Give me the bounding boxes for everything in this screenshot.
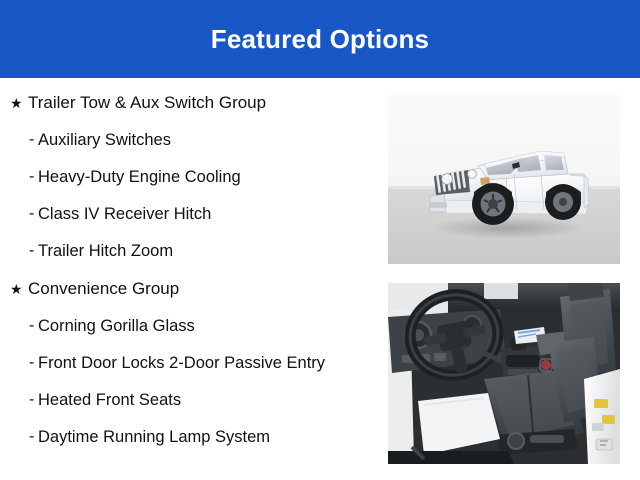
- option-item-row: - Trailer Hitch Zoom: [8, 238, 374, 275]
- option-group-label: Trailer Tow & Aux Switch Group: [28, 90, 374, 116]
- option-item-row: - Auxiliary Switches: [8, 127, 374, 164]
- option-group-row: ★ Trailer Tow & Aux Switch Group: [8, 90, 374, 127]
- star-bullet-icon: ★: [8, 276, 28, 302]
- option-item-label: Heated Front Seats: [29, 387, 334, 413]
- option-item-row: - Corning Gorilla Glass: [8, 313, 374, 350]
- vehicle-interior-photo: [388, 283, 620, 464]
- dash-bullet-icon: -: [8, 127, 29, 153]
- option-item-row: - Heavy-Duty Engine Cooling: [8, 164, 374, 201]
- option-group-label: Convenience Group: [28, 276, 374, 302]
- option-item-row: - Front Door Locks 2-Door Passive Entry: [8, 350, 374, 387]
- option-group-row: ★ Convenience Group: [8, 276, 374, 313]
- page-title: Featured Options: [211, 26, 429, 52]
- media-column: [388, 92, 620, 464]
- option-item-label: Corning Gorilla Glass: [29, 313, 334, 339]
- dash-bullet-icon: -: [8, 201, 29, 227]
- vehicle-exterior-illustration: [388, 92, 620, 264]
- vehicle-exterior-photo: [388, 92, 620, 264]
- dash-bullet-icon: -: [8, 164, 29, 190]
- option-item-row: - Heated Front Seats: [8, 387, 374, 424]
- vehicle-interior-illustration: [388, 283, 620, 464]
- option-item-label: Daytime Running Lamp System: [29, 424, 334, 450]
- dash-bullet-icon: -: [8, 350, 29, 376]
- featured-options-page: Featured Options ★ Trailer Tow & Aux Swi…: [0, 0, 640, 480]
- option-item-label: Front Door Locks 2-Door Passive Entry: [29, 350, 334, 376]
- dash-bullet-icon: -: [8, 424, 29, 450]
- options-list: ★ Trailer Tow & Aux Switch Group - Auxil…: [0, 79, 380, 480]
- option-item-label: Trailer Hitch Zoom: [29, 238, 334, 264]
- option-item-label: Auxiliary Switches: [29, 127, 334, 153]
- option-item-label: Heavy-Duty Engine Cooling: [29, 164, 334, 190]
- option-item-row: - Daytime Running Lamp System: [8, 424, 374, 461]
- content-area: ★ Trailer Tow & Aux Switch Group - Auxil…: [0, 79, 640, 480]
- star-bullet-icon: ★: [8, 90, 28, 116]
- option-item-row: - Class IV Receiver Hitch: [8, 201, 374, 238]
- header-banner: Featured Options: [0, 0, 640, 78]
- option-item-label: Class IV Receiver Hitch: [29, 201, 334, 227]
- dash-bullet-icon: -: [8, 313, 29, 339]
- dash-bullet-icon: -: [8, 387, 29, 413]
- dash-bullet-icon: -: [8, 238, 29, 264]
